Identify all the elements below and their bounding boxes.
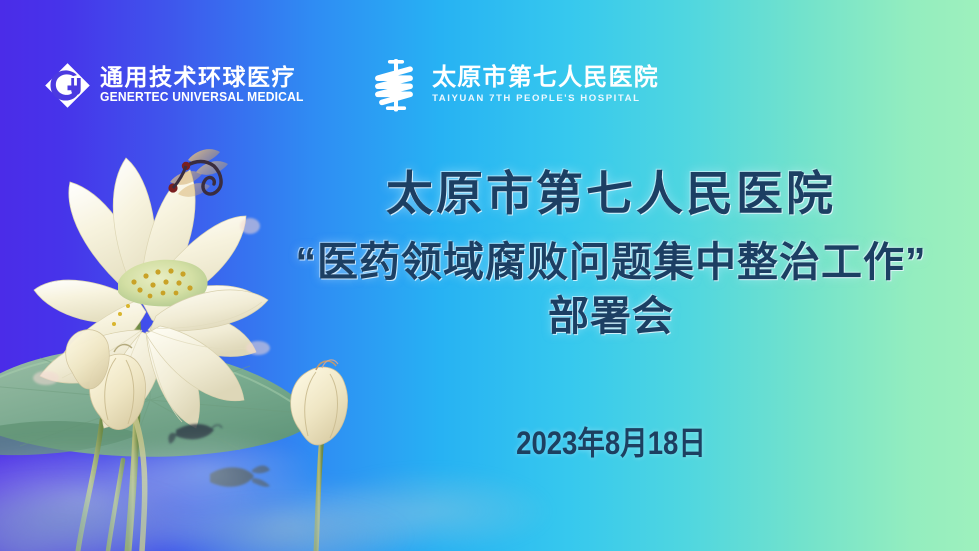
dragonfly xyxy=(168,149,228,197)
genertec-logo: 通用技术环球医疗 GENERTEC UNIVERSAL MEDICAL xyxy=(44,62,312,109)
subtitle-line-1: “医药领域腐败问题集中整治工作” xyxy=(296,239,927,285)
main-title: 太原市第七人民医院 xyxy=(258,166,964,221)
caduceus-serpent-staff-icon xyxy=(370,56,422,114)
headline-block: 太原市第七人民医院 “医药领域腐败问题集中整治工作” 部署会 xyxy=(258,166,964,343)
genertec-chinese-name: 通用技术环球医疗 xyxy=(100,65,312,90)
hospital-english-name: TAIYUAN 7TH PEOPLE'S HOSPITAL xyxy=(432,93,659,105)
presentation-backdrop: 通用技术环球医疗 GENERTEC UNIVERSAL MEDICAL 太原市第… xyxy=(0,0,979,551)
genertec-gu-diamond-icon xyxy=(44,62,91,109)
lotus-seed-pod xyxy=(110,260,210,356)
event-date: 2023年8月18日 xyxy=(307,418,914,464)
genertec-english-name: GENERTEC UNIVERSAL MEDICAL xyxy=(100,90,304,106)
subtitle: “医药领域腐败问题集中整治工作” 部署会 xyxy=(258,236,964,343)
logo-bar: 通用技术环球医疗 GENERTEC UNIVERSAL MEDICAL 太原市第… xyxy=(44,56,659,114)
subtitle-line-2: 部署会 xyxy=(258,290,964,343)
hospital-chinese-name: 太原市第七人民医院 xyxy=(432,65,659,91)
hospital-logo: 太原市第七人民医院 TAIYUAN 7TH PEOPLE'S HOSPITAL xyxy=(370,56,659,114)
